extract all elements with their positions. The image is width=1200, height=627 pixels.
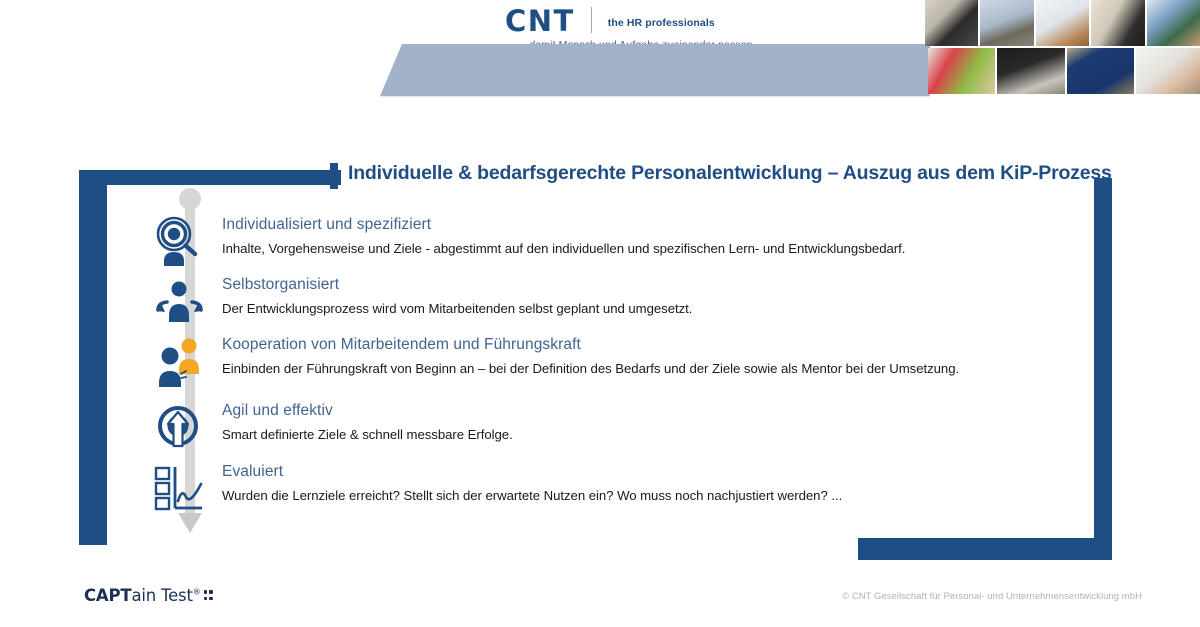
frame-top-left-horizontal (79, 170, 341, 185)
captain-logo-bold: CAPT (84, 586, 131, 605)
header-band-shadow (380, 96, 930, 98)
process-step-body: Individualisiert und spezifiziert Inhalt… (222, 216, 905, 257)
registered-mark: ® (193, 588, 201, 597)
cnt-logo-wordmark: CNT (505, 6, 575, 36)
collage-photo-studio-lighting (925, 0, 978, 46)
page-title-text: Individuelle & bedarfsgerechte Personale… (348, 162, 1112, 185)
collage-photo-laptop-keyboard (997, 48, 1064, 94)
target-arrow-up-icon (150, 402, 210, 454)
cnt-logo-tagline: the HR professionals (608, 17, 715, 29)
collage-photo-apples-bowl (928, 48, 995, 94)
collage-row-top (925, 0, 1200, 46)
collage-row-bottom (928, 48, 1200, 94)
process-step-description: Der Entwicklungsprozess wird vom Mitarbe… (222, 300, 692, 317)
process-step-description: Einbinden der Führungskraft von Beginn a… (222, 360, 959, 377)
cnt-logo: CNT the HR professionals damit Mensch un… (505, 6, 805, 46)
person-magnifier-icon (150, 216, 210, 268)
title-accent-bar (330, 163, 338, 189)
process-step-body: Kooperation von Mitarbeitendem und Führu… (222, 336, 959, 377)
collage-photo-office-chairs (1091, 0, 1144, 46)
header-band-shape (380, 44, 930, 96)
collage-photo-blue-folder (1067, 48, 1134, 94)
process-step-heading: Evaluiert (222, 463, 842, 481)
copyright-notice: © CNT Gesellschaft für Personal- und Unt… (842, 591, 1142, 602)
captain-logo-dots-icon (204, 586, 215, 605)
captain-test-logo: CAPTain Test® (84, 586, 215, 606)
collage-photo-pen-holder (1147, 0, 1200, 46)
captain-logo-rest: ain Test (131, 586, 192, 605)
person-cycle-arrows-icon (150, 276, 210, 328)
two-people-cooperation-icon (150, 336, 210, 388)
process-step-body: Selbstorganisiert Der Entwicklungsprozes… (222, 276, 692, 317)
process-step-body: Evaluiert Wurden die Lernziele erreicht?… (222, 463, 842, 504)
logo-divider (591, 7, 592, 33)
checklist-chart-icon (150, 463, 210, 515)
collage-photo-city-street (980, 0, 1033, 46)
collage-photo-hand-writing (1136, 48, 1200, 94)
process-step-body: Agil und effektiv Smart definierte Ziele… (222, 402, 513, 443)
process-step-description: Wurden die Lernziele erreicht? Stellt si… (222, 487, 842, 504)
frame-right-vertical (1094, 178, 1112, 546)
frame-left-vertical (79, 170, 107, 545)
process-step-heading: Kooperation von Mitarbeitendem und Führu… (222, 336, 959, 354)
page-title: Individuelle & bedarfsgerechte Personale… (330, 163, 1100, 191)
process-step-heading: Individualisiert und spezifiziert (222, 216, 905, 234)
timeline-arrow-head-icon (178, 513, 202, 533)
process-step-heading: Agil und effektiv (222, 402, 513, 420)
process-step-heading: Selbstorganisiert (222, 276, 692, 294)
header-photo-collage (925, 0, 1200, 96)
collage-photo-desk-documents (1036, 0, 1089, 46)
frame-bottom-right-horizontal (858, 538, 1112, 560)
slide-header: CNT the HR professionals damit Mensch un… (0, 0, 1200, 100)
process-step-description: Inhalte, Vorgehensweise und Ziele - abge… (222, 240, 905, 257)
process-step-description: Smart definierte Ziele & schnell messbar… (222, 426, 513, 443)
